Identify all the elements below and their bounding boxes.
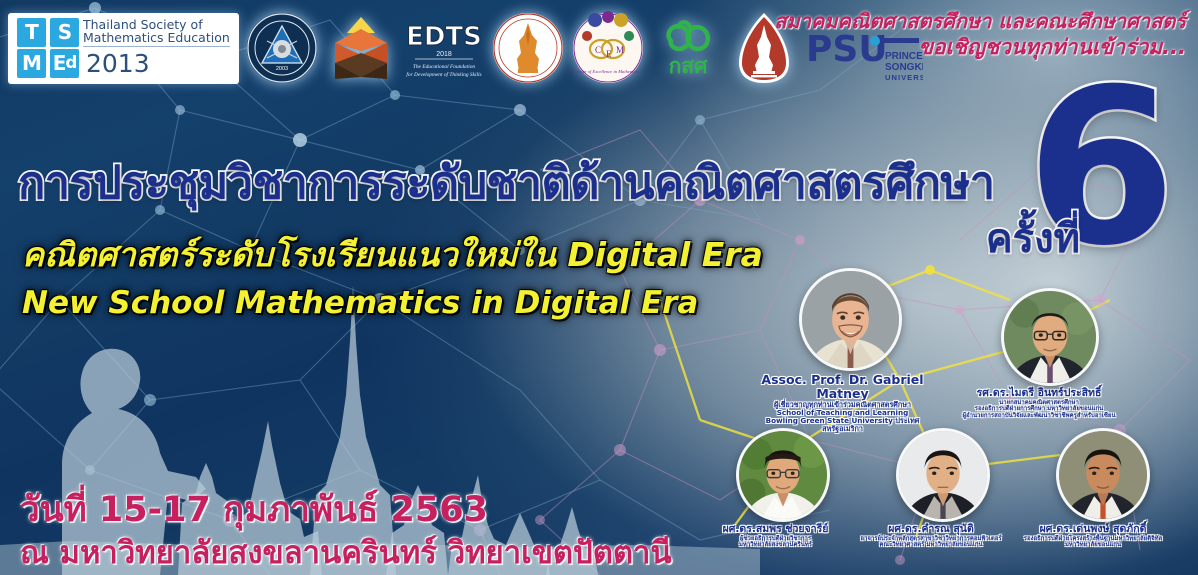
edts-logo: EDTS 2018 The Educational Foundation for…	[403, 11, 485, 85]
speaker-aff2: มหาวิทยาลัยขอนแก่น	[1008, 542, 1178, 549]
speaker-photo-gabriel-matney	[799, 268, 902, 371]
edts-sub2: for Development of Thinking Skills	[406, 71, 481, 78]
cemu-letter-m: M	[616, 45, 624, 55]
tsmed-year: 2013	[83, 51, 150, 76]
cemu-letter-c: C	[595, 45, 601, 55]
tsmed-logo: T S Thailand Society of Mathematics Educ…	[8, 13, 239, 84]
psu-line3: UNIVERSITY	[885, 73, 923, 82]
speaker-aff2: คณะวิทยาศาสตร์ มหาวิทยาลัยขอนแก่น	[842, 542, 1020, 549]
speaker-card-denpong-sudkit: ผศ.ดร.เด่นพงษ์ สุดภักดี์ รองอธิการบดีฝ่า…	[1038, 428, 1168, 549]
tsmed-letter-ed: Ed	[50, 49, 79, 78]
edts-year: 2018	[436, 51, 452, 58]
edts-wordmark: EDTS	[406, 22, 482, 52]
portrait-denpong-sudkit	[1059, 431, 1147, 519]
portrait-gabriel-matney	[802, 271, 899, 368]
speaker-name: Assoc. Prof. Dr. Gabriel Matney	[753, 373, 933, 401]
speaker-aff2: มหาวิทยาลัยสงขลานครินทร์	[696, 542, 856, 549]
tsmed-letter-m: M	[17, 49, 46, 78]
speaker-photo-maitree-inprasitha	[1001, 288, 1099, 386]
speaker-photo-denpong-sudkit	[1056, 428, 1150, 522]
portrait-maitree-inprasitha	[1004, 291, 1096, 383]
speaker-aff3: ผู้อำนวยการสถาบันวิจัยและพัฒนาวิชาชีพครู…	[942, 413, 1137, 420]
portrait-kamron-sunat	[899, 431, 987, 519]
tsmed-letter-d: d	[65, 55, 76, 72]
speaker-caption-denpong-sudkit: ผศ.ดร.เด่นพงษ์ สุดภักดี์ รองอธิการบดีฝ่า…	[1008, 524, 1178, 549]
speaker-caption-maitree-inprasitha: รศ.ดร.ไมตรี อินทร์ประสิทธิ์ นายกสมาคมคณิ…	[942, 388, 1137, 420]
psu-line2: SONGKLA	[885, 62, 923, 73]
portrait-sompon-chuaycharee	[739, 431, 827, 519]
cemu-tagline: Center of Excellence in Mathematics	[574, 69, 642, 74]
speaker-card-gabriel-matney: Assoc. Prof. Dr. Gabriel Matney ผู้เชี่ย…	[775, 268, 925, 433]
speaker-card-kamron-sunat: ผศ.ดร.คำรณ สุนัติ อาจารย์ประจำหลักสูตรสา…	[878, 428, 1008, 549]
tsmed-letter-e: E	[53, 53, 66, 73]
kku-seal-year: 2003	[276, 66, 288, 72]
tsmed-society-name: Thailand Society of Mathematics Educatio…	[83, 18, 230, 47]
speaker-name: ผศ.ดร.สมพร ช่วยจารีย์	[696, 524, 856, 536]
speaker-photo-sompon-chuaycharee	[736, 428, 830, 522]
tsmed-letter-s: S	[50, 18, 79, 47]
subtitle-thai: คณิตศาสตร์ระดับโรงเรียนแนวใหม่ใน Digital…	[22, 228, 763, 281]
speaker-name: รศ.ดร.ไมตรี อินทร์ประสิทธิ์	[942, 388, 1137, 400]
edts-sub1: The Educational Foundation	[413, 64, 476, 70]
speaker-card-sompon-chuaycharee: ผศ.ดร.สมพร ช่วยจารีย์ ผู้ช่วยอธิการบดีฝ่…	[718, 428, 848, 549]
speaker-caption-kamron-sunat: ผศ.ดร.คำรณ สุนัติ อาจารย์ประจำหลักสูตรสา…	[842, 524, 1020, 549]
tsmed-divider	[83, 46, 230, 47]
kku-semiconductor-seal-logo: 2003	[245, 11, 319, 85]
page-title: การประชุมวิชาการระดับชาติด้านคณิตศาสตรศึ…	[18, 146, 994, 218]
thai-royal-seal-logo	[491, 11, 565, 85]
cemu-letter-e: E	[606, 49, 612, 59]
kosot-logo: กสศ	[651, 11, 725, 85]
edition-label: ครั้งที่	[986, 206, 1080, 270]
tsmed-name-line1: Thailand Society of	[83, 18, 230, 32]
tsmed-letter-t: T	[17, 18, 46, 47]
speaker-name: ผศ.ดร.เด่นพงษ์ สุดภักดี์	[1008, 524, 1178, 536]
event-venue: ณ มหาวิทยาลัยสงขลานครินทร์ วิทยาเขตปัตตา…	[20, 527, 672, 575]
cemu-logo: C E M Center of Excellence in Mathematic…	[571, 11, 645, 85]
speaker-photo-kamron-sunat	[896, 428, 990, 522]
speaker-card-maitree-inprasitha: รศ.ดร.ไมตรี อินทร์ประสิทธิ์ นายกสมาคมคณิ…	[975, 288, 1125, 420]
speaker-caption-sompon-chuaycharee: ผศ.ดร.สมพร ช่วยจารีย์ ผู้ช่วยอธิการบดีฝ่…	[696, 524, 856, 549]
conference-banner: T S Thailand Society of Mathematics Educ…	[0, 0, 1198, 575]
invitation-line1: สมาคมคณิตศาสตรศึกษา และคณะศึกษาศาสตร์	[774, 8, 1186, 34]
origami-stack-logo	[325, 11, 397, 85]
speaker-name: ผศ.ดร.คำรณ สุนัติ	[842, 524, 1020, 536]
speaker-caption-gabriel-matney: Assoc. Prof. Dr. Gabriel Matney ผู้เชี่ย…	[753, 373, 933, 433]
kosot-wordmark: กสศ	[668, 54, 708, 78]
subtitle-english: New School Mathematics in Digital Era	[22, 285, 698, 321]
tsmed-name-line2: Mathematics Education	[83, 31, 230, 45]
